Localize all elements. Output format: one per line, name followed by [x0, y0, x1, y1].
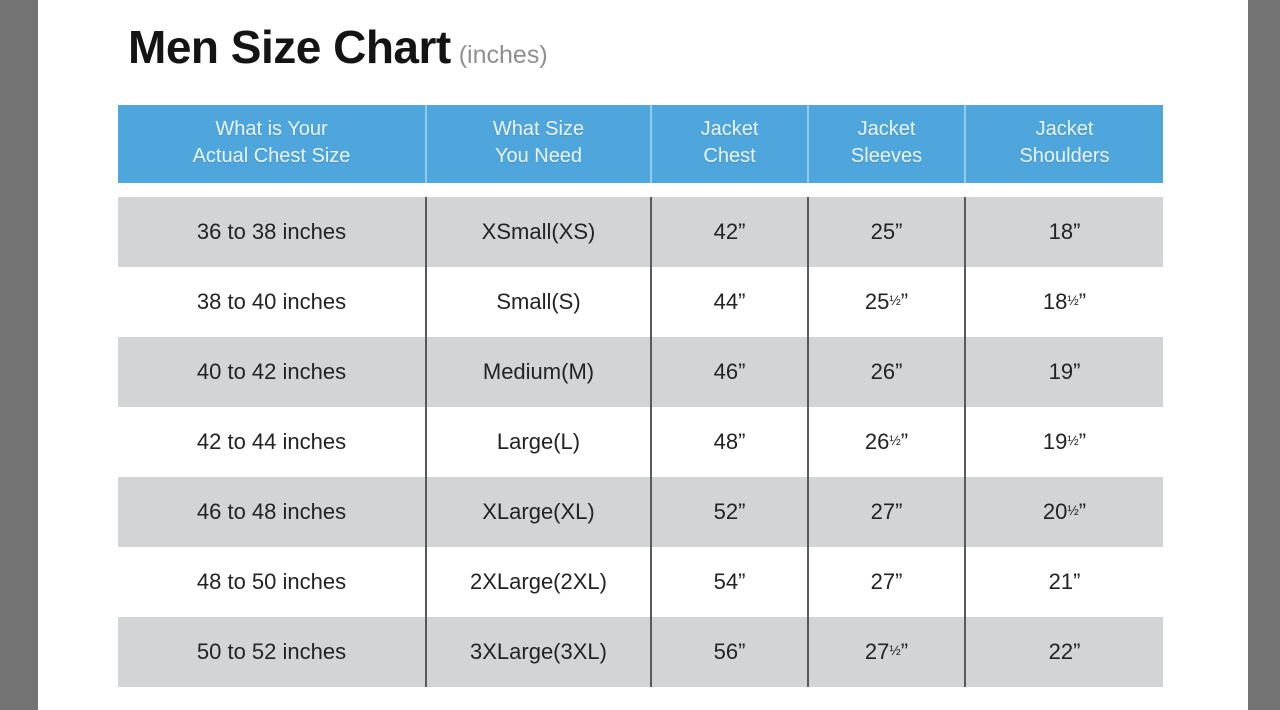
- header-body-gap: [118, 183, 1163, 197]
- table-row: 40 to 42 inchesMedium(M)46”26”19”: [118, 337, 1163, 407]
- column-header-size-you-need: What Size You Need: [426, 105, 651, 183]
- cell-jacket-sleeves: 26”: [808, 337, 965, 407]
- letterbox-bar-right: [1248, 0, 1280, 710]
- cell-jacket-chest: 56”: [651, 617, 808, 687]
- column-header-line1: Jacket: [656, 116, 803, 143]
- cell-jacket-sleeves: 27”: [808, 547, 965, 617]
- table-header: What is Your Actual Chest Size What Size…: [118, 105, 1163, 183]
- cell-jacket-chest: 46”: [651, 337, 808, 407]
- cell-jacket-shoulders: 20½”: [965, 477, 1163, 547]
- table-row: 36 to 38 inchesXSmall(XS)42”25”18”: [118, 197, 1163, 267]
- table-row: 48 to 50 inches2XLarge(2XL)54”27”21”: [118, 547, 1163, 617]
- slide-content: Men Size Chart(inches) What is Your Actu…: [38, 0, 1248, 710]
- column-header-line1: What is Your: [122, 116, 421, 143]
- column-header-line2: You Need: [431, 143, 646, 170]
- cell-size-you-need: XLarge(XL): [426, 477, 651, 547]
- cell-size-you-need: 3XLarge(3XL): [426, 617, 651, 687]
- cell-jacket-sleeves: 25½”: [808, 267, 965, 337]
- column-header-line2: Sleeves: [813, 143, 960, 170]
- column-header-line1: What Size: [431, 116, 646, 143]
- column-header-line2: Chest: [656, 143, 803, 170]
- page-title-units: (inches): [459, 41, 548, 69]
- cell-actual-chest-size: 38 to 40 inches: [118, 267, 426, 337]
- cell-jacket-shoulders: 22”: [965, 617, 1163, 687]
- letterbox-bar-left: [0, 0, 38, 710]
- cell-size-you-need: 2XLarge(2XL): [426, 547, 651, 617]
- cell-size-you-need: Small(S): [426, 267, 651, 337]
- column-header-actual-chest-size: What is Your Actual Chest Size: [118, 105, 426, 183]
- cell-jacket-shoulders: 21”: [965, 547, 1163, 617]
- cell-size-you-need: Medium(M): [426, 337, 651, 407]
- column-header-line1: Jacket: [813, 116, 960, 143]
- table-row: 42 to 44 inchesLarge(L)48”26½”19½”: [118, 407, 1163, 477]
- column-header-jacket-chest: Jacket Chest: [651, 105, 808, 183]
- table-row: 46 to 48 inchesXLarge(XL)52”27”20½”: [118, 477, 1163, 547]
- table-row: 50 to 52 inches3XLarge(3XL)56”27½”22”: [118, 617, 1163, 687]
- cell-jacket-sleeves: 27”: [808, 477, 965, 547]
- cell-actual-chest-size: 50 to 52 inches: [118, 617, 426, 687]
- cell-jacket-sleeves: 25”: [808, 197, 965, 267]
- table-row: 38 to 40 inchesSmall(S)44”25½”18½”: [118, 267, 1163, 337]
- cell-jacket-shoulders: 19”: [965, 337, 1163, 407]
- column-header-jacket-sleeves: Jacket Sleeves: [808, 105, 965, 183]
- slide-canvas: Men Size Chart(inches) What is Your Actu…: [0, 0, 1280, 710]
- column-header-line2: Shoulders: [970, 143, 1159, 170]
- page-title-main: Men Size Chart: [128, 21, 451, 73]
- cell-jacket-chest: 48”: [651, 407, 808, 477]
- cell-size-you-need: XSmall(XS): [426, 197, 651, 267]
- column-header-line2: Actual Chest Size: [122, 143, 421, 170]
- table-header-row: What is Your Actual Chest Size What Size…: [118, 105, 1163, 183]
- cell-jacket-shoulders: 18”: [965, 197, 1163, 267]
- column-header-jacket-shoulders: Jacket Shoulders: [965, 105, 1163, 183]
- cell-actual-chest-size: 46 to 48 inches: [118, 477, 426, 547]
- cell-jacket-chest: 54”: [651, 547, 808, 617]
- cell-jacket-sleeves: 26½”: [808, 407, 965, 477]
- cell-actual-chest-size: 40 to 42 inches: [118, 337, 426, 407]
- cell-size-you-need: Large(L): [426, 407, 651, 477]
- cell-jacket-chest: 44”: [651, 267, 808, 337]
- cell-jacket-chest: 42”: [651, 197, 808, 267]
- page-title: Men Size Chart(inches): [128, 20, 548, 74]
- cell-actual-chest-size: 42 to 44 inches: [118, 407, 426, 477]
- cell-jacket-shoulders: 18½”: [965, 267, 1163, 337]
- column-header-line1: Jacket: [970, 116, 1159, 143]
- size-chart-table: What is Your Actual Chest Size What Size…: [118, 105, 1163, 687]
- gap-cell: [118, 183, 1163, 197]
- cell-actual-chest-size: 48 to 50 inches: [118, 547, 426, 617]
- cell-jacket-sleeves: 27½”: [808, 617, 965, 687]
- table-body: 36 to 38 inchesXSmall(XS)42”25”18”38 to …: [118, 183, 1163, 687]
- cell-jacket-chest: 52”: [651, 477, 808, 547]
- cell-actual-chest-size: 36 to 38 inches: [118, 197, 426, 267]
- cell-jacket-shoulders: 19½”: [965, 407, 1163, 477]
